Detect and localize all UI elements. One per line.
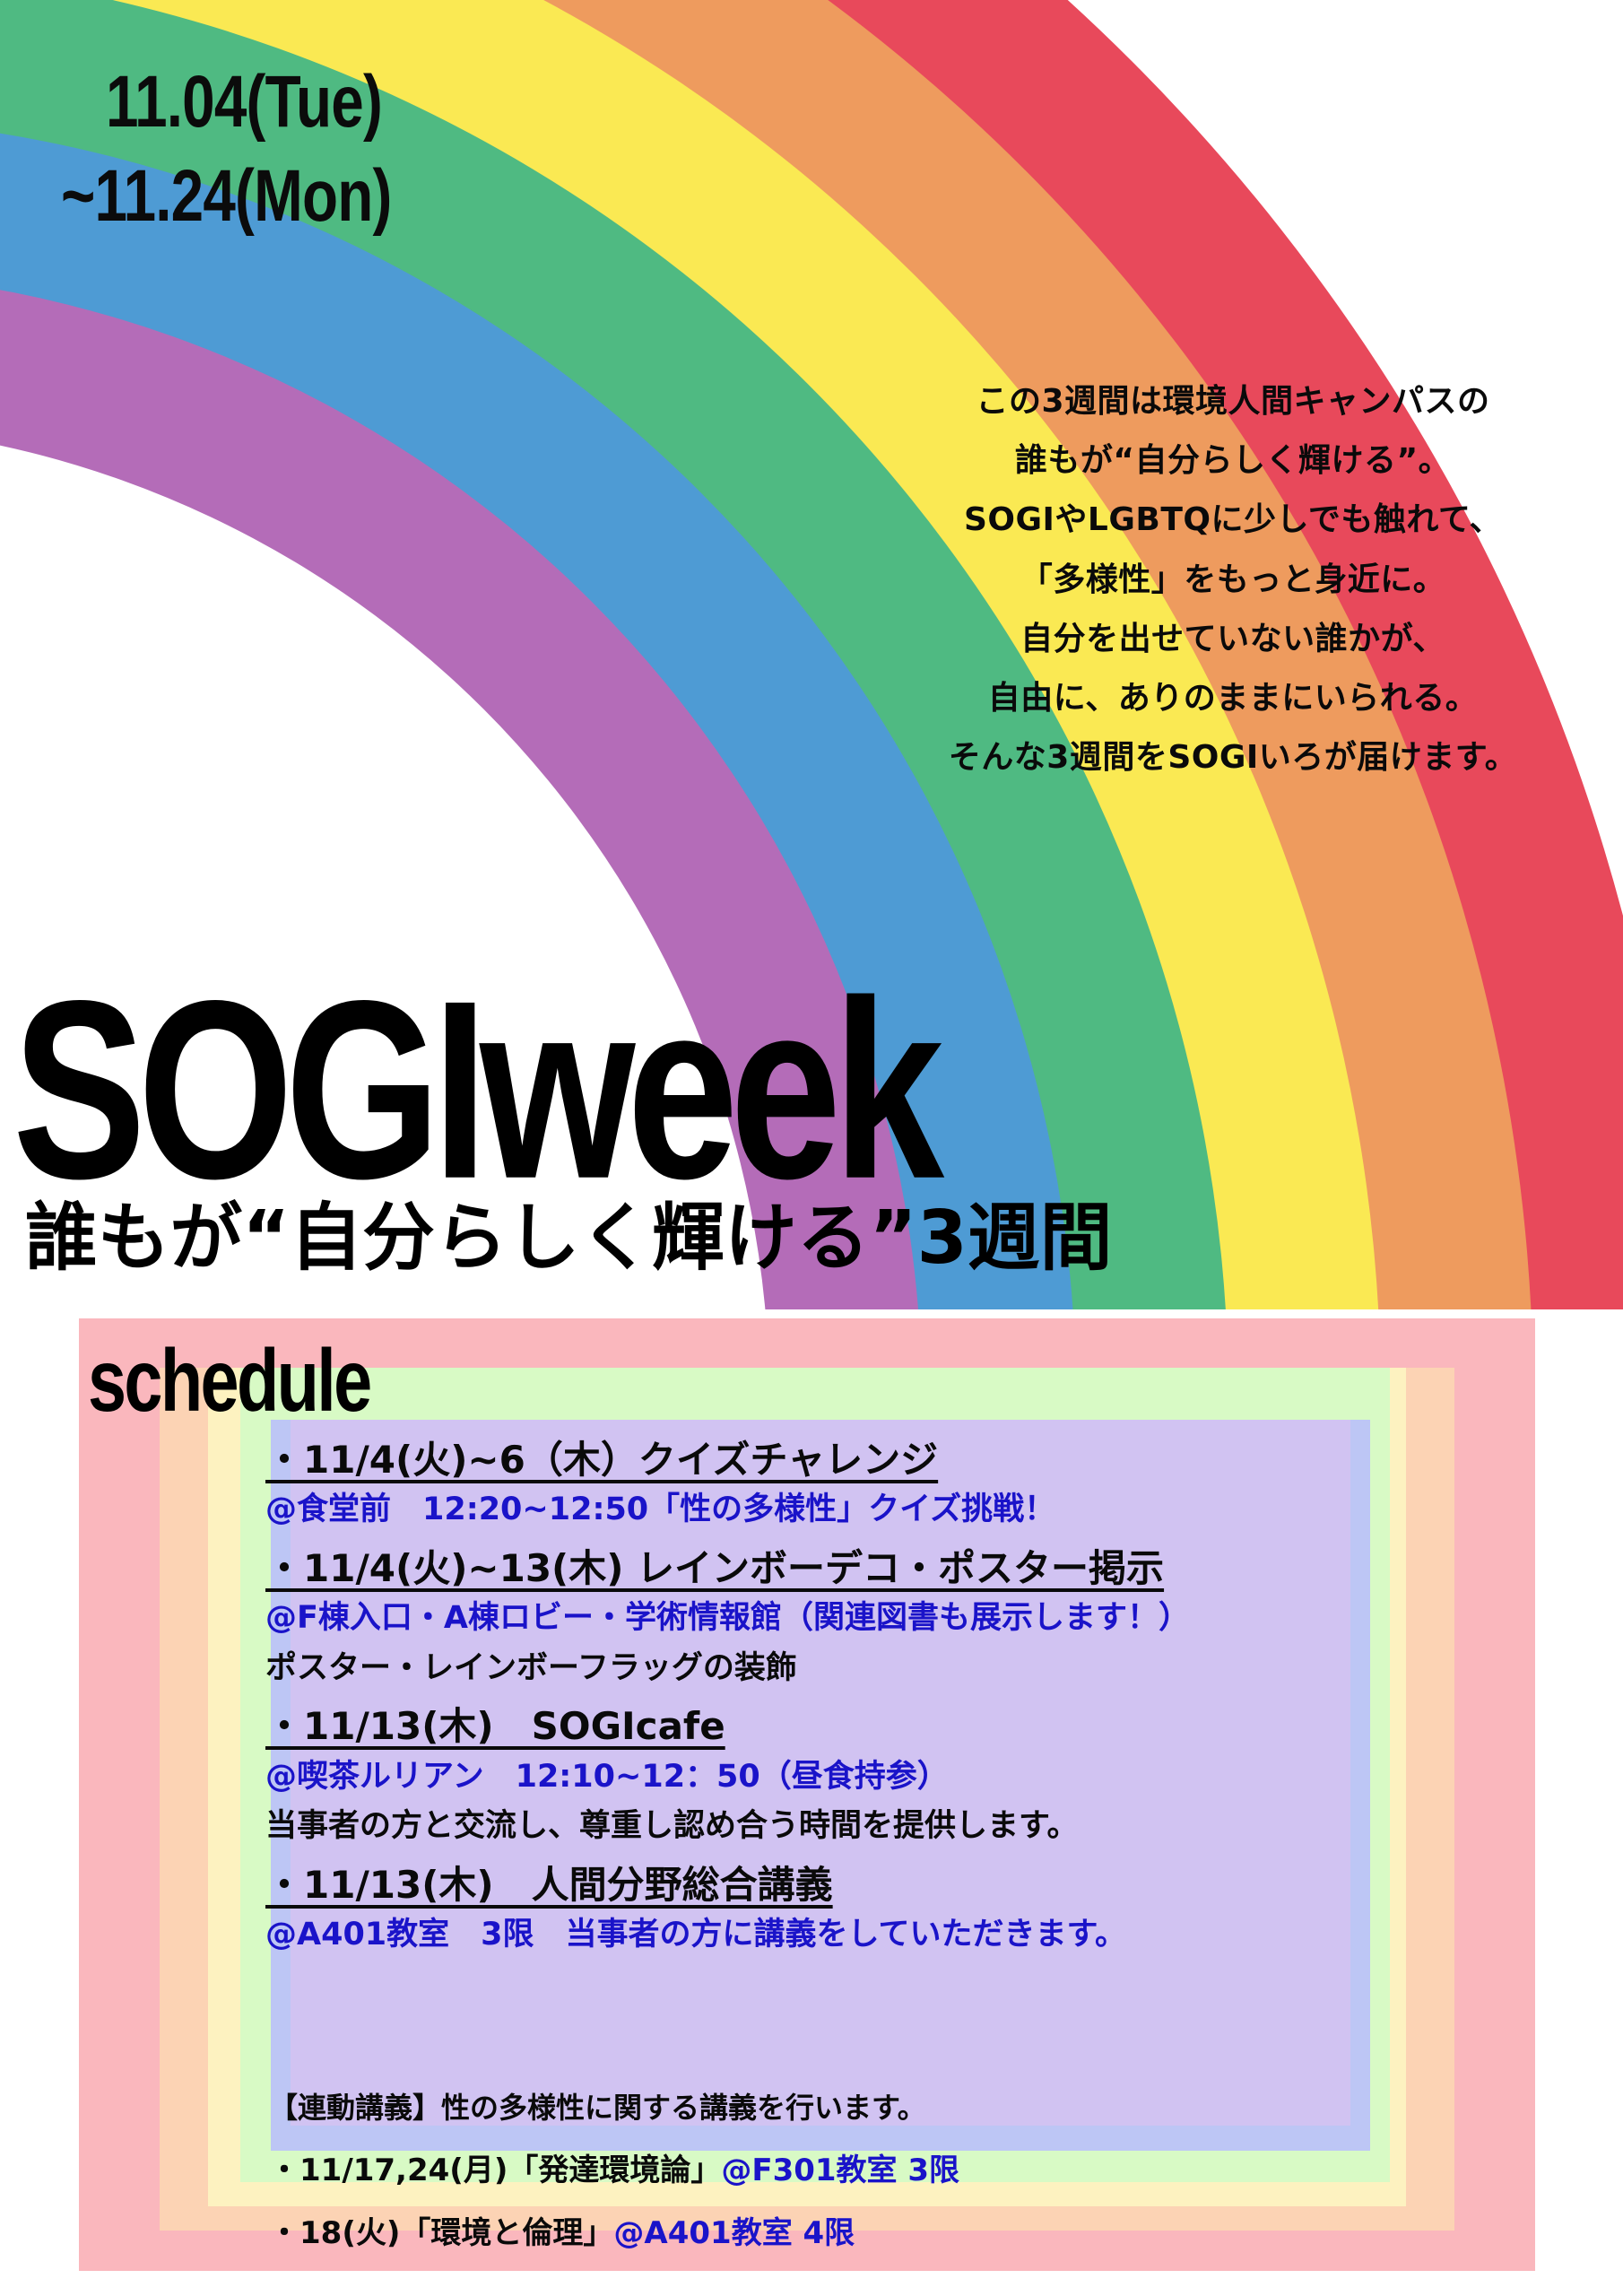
- date-start: 11.04(Tue): [106, 56, 401, 150]
- linked-lectures-note: 【連動講義】性の多様性に関する講義を行います。 ・11/17,24(月)「発達環…: [269, 2090, 1417, 2276]
- schedule-heading: schedule: [88, 1336, 370, 1425]
- schedule-item: ・11/13(木) SOGIcafe @喫茶ルリアン 12:10~12：50（昼…: [265, 1701, 1377, 1847]
- linked-lectures-heading: 【連動講義】性の多様性に関する講義を行います。: [269, 2090, 1417, 2127]
- schedule-item-title: ・11/4(火)~6（木）クイズチャレンジ: [265, 1435, 1377, 1484]
- schedule-item-title: ・11/13(木) SOGIcafe: [265, 1701, 1377, 1751]
- intro-line: 自由に、ありのままにいられる。: [870, 669, 1596, 728]
- schedule-item-title: ・11/4(火)~13(木) レインボーデコ・ポスター掲示: [265, 1544, 1377, 1593]
- event-dates: 11.04(Tue) ~11.24(Mon): [106, 56, 474, 244]
- poster-title: SOGIweek: [13, 973, 936, 1207]
- poster-subtitle: 誰もが“自分らしく輝ける”3週間: [25, 1202, 1112, 1275]
- schedule-item-title: ・11/13(木) 人間分野総合講義: [265, 1860, 1377, 1909]
- poster-root: 11.04(Tue) ~11.24(Mon) この3週間は環境人間キャンパスの …: [0, 0, 1623, 2296]
- intro-paragraph: この3週間は環境人間キャンパスの 誰もが“自分らしく輝ける”。 SOGIやLGB…: [870, 372, 1596, 788]
- schedule-item-where: @食堂前 12:20~12:50「性の多様性」クイズ挑戦！: [265, 1490, 1377, 1531]
- schedule-item-desc: ポスター・レインボーフラッグの装飾: [265, 1648, 1377, 1690]
- schedule-item: ・11/4(火)~13(木) レインボーデコ・ポスター掲示 @F棟入口・A棟ロビ…: [265, 1544, 1377, 1689]
- linked-lecture-room: @A401教室 4限: [613, 2215, 855, 2251]
- intro-line: 「多様性」をもっと身近に。: [870, 551, 1596, 610]
- intro-line: そんな3週間をSOGIいろが届けます。: [870, 728, 1596, 787]
- linked-lecture-label: ・18(火)「環境と倫理」: [269, 2215, 613, 2251]
- linked-lecture-label: ・11/17,24(月)「発達環境論」: [269, 2152, 721, 2188]
- schedule-list: ・11/4(火)~6（木）クイズチャレンジ @食堂前 12:20~12:50「性…: [265, 1435, 1377, 1969]
- schedule-item-where: @A401教室 3限 当事者の方に講義をしていただきます。: [265, 1915, 1377, 1956]
- intro-line: この3週間は環境人間キャンパスの: [870, 372, 1596, 431]
- linked-lecture-row: ・18(火)「環境と倫理」@A401教室 4限: [269, 2213, 1417, 2253]
- schedule-item: ・11/4(火)~6（木）クイズチャレンジ @食堂前 12:20~12:50「性…: [265, 1435, 1377, 1531]
- schedule-item: ・11/13(木) 人間分野総合講義 @A401教室 3限 当事者の方に講義をし…: [265, 1860, 1377, 1956]
- schedule-item-desc: 当事者の方と交流し、尊重し認め合う時間を提供します。: [265, 1806, 1377, 1848]
- date-end: ~11.24(Mon): [61, 150, 392, 244]
- linked-lecture-row: ・11/17,24(月)「発達環境論」@F301教室 3限: [269, 2151, 1417, 2190]
- intro-line: SOGIやLGBTQに少しでも触れて、: [870, 491, 1596, 550]
- schedule-item-where: @喫茶ルリアン 12:10~12：50（昼食持参）: [265, 1757, 1377, 1798]
- intro-line: 自分を出せていない誰かが、: [870, 610, 1596, 669]
- linked-lecture-room: @F301教室 3限: [721, 2152, 959, 2188]
- intro-line: 誰もが“自分らしく輝ける”。: [870, 431, 1596, 491]
- schedule-item-where: @F棟入口・A棟ロビー・学術情報館（関連図書も展示します！）: [265, 1598, 1377, 1639]
